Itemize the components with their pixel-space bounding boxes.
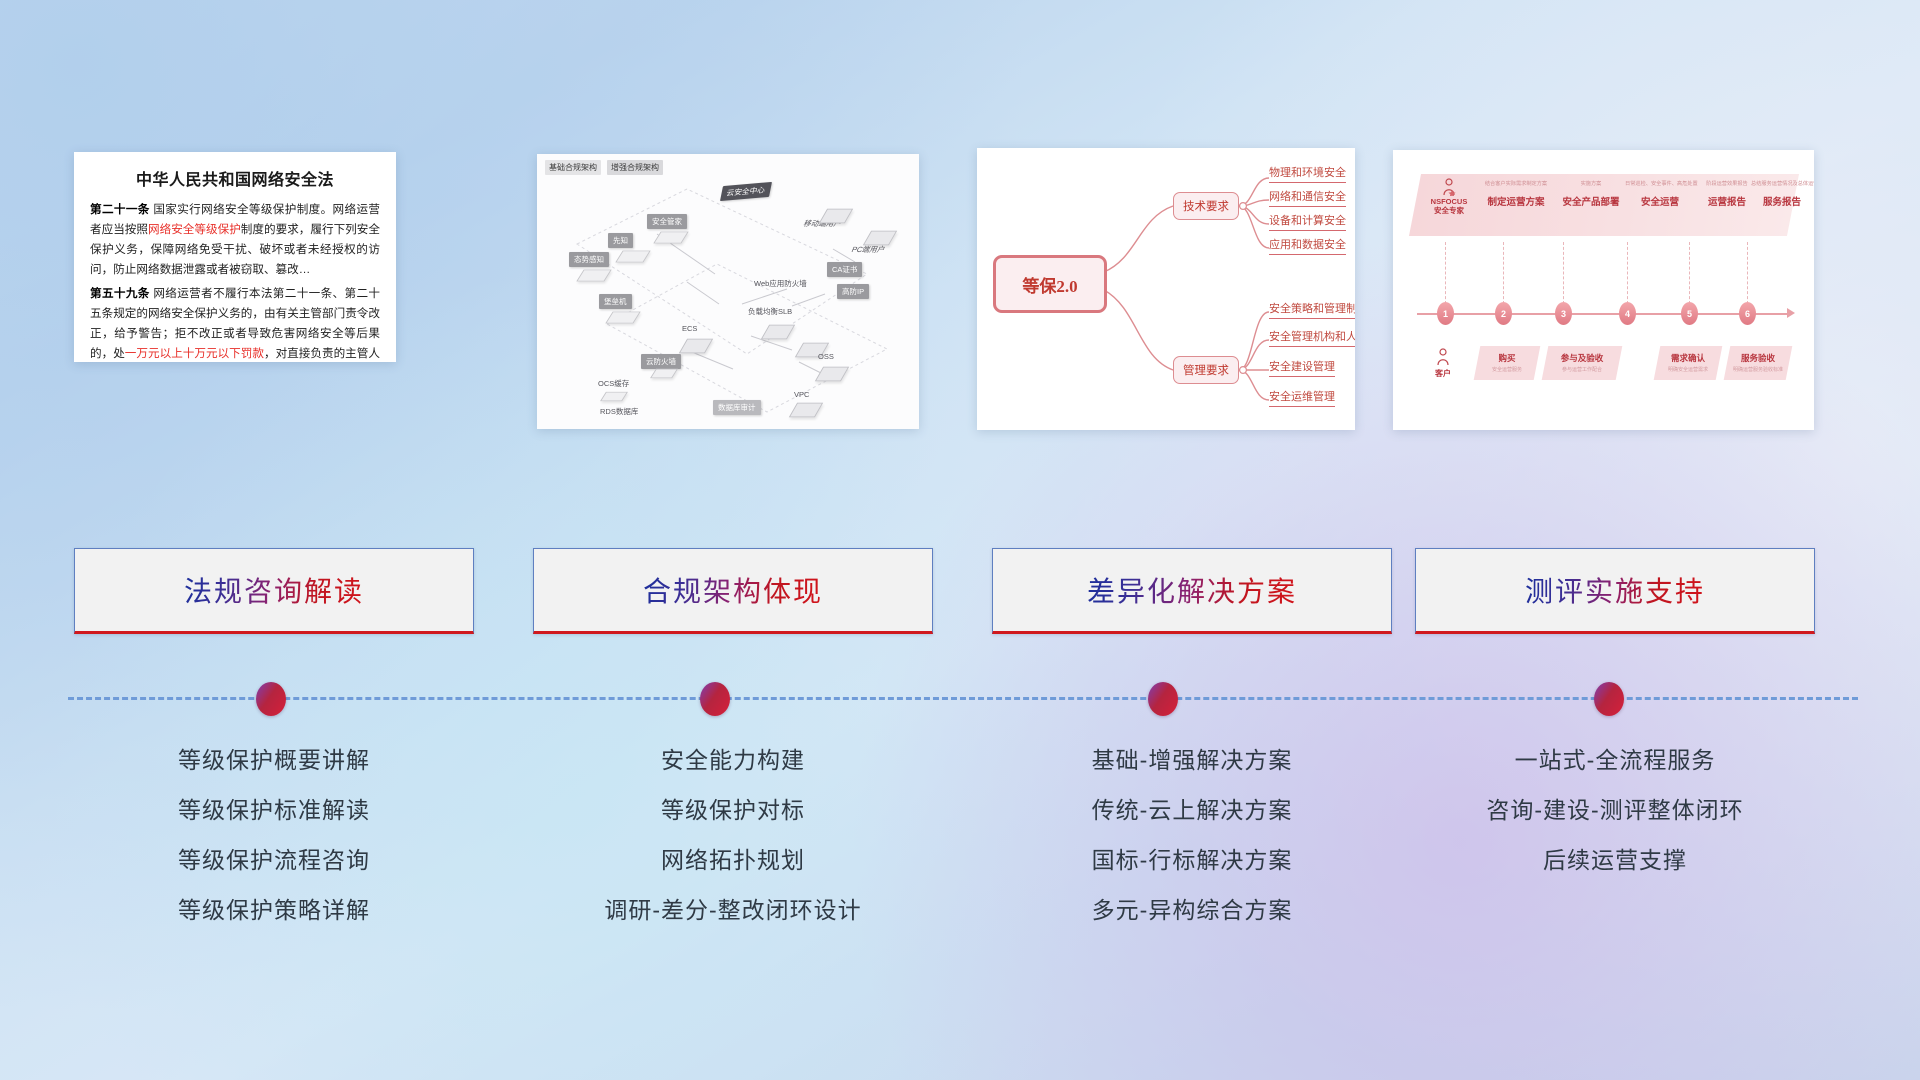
nsfocus-milestone-3[interactable]: 3 <box>1555 302 1572 325</box>
feature-item[interactable]: 等级保护概要讲解 <box>74 735 474 785</box>
architecture-node-rds-database[interactable]: RDS数据库 <box>595 404 643 419</box>
architecture-node-situation-awareness[interactable]: 态势感知 <box>569 252 609 267</box>
tab-assessment-support[interactable]: 测评实施支持 <box>1415 548 1815 634</box>
nsfocus-milestone-1[interactable]: 1 <box>1437 302 1454 325</box>
feature-item[interactable]: 调研-差分-整改闭环设计 <box>533 885 933 935</box>
nsfocus-milestone-2[interactable]: 2 <box>1495 302 1512 325</box>
mindmap-leaf-physical-environment-security[interactable]: 物理和环境安全 <box>1269 168 1346 183</box>
tab-assessment-support-label: 测评实施支持 <box>1525 570 1705 610</box>
feature-item[interactable]: 一站式-全流程服务 <box>1415 735 1815 785</box>
nsfocus-bottom-item-4-title: 服务验收 <box>1727 352 1789 364</box>
tab-regulation-consulting-label: 法规咨询解读 <box>184 570 364 610</box>
feature-item[interactable]: 传统-云上解决方案 <box>992 785 1392 835</box>
nsfocus-step-5[interactable]: 总结服务运营情况及总体运营效果 服务报告 <box>1751 182 1813 208</box>
feature-column-4: 一站式-全流程服务 咨询-建设-测评整体闭环 后续运营支撑 <box>1415 735 1815 885</box>
feature-item[interactable]: 等级保护对标 <box>533 785 933 835</box>
nsfocus-bottom-item-3-sub: 明确安全运营需求 <box>1657 366 1719 373</box>
nsfocus-bottom-item-1-sub: 安全运营服务 <box>1477 366 1537 373</box>
architecture-node-cloud-firewall[interactable]: 云防火墙 <box>641 354 681 369</box>
architecture-node-bastion-host[interactable]: 堡垒机 <box>599 294 632 309</box>
nsfocus-tick-3 <box>1563 242 1565 304</box>
feature-item[interactable]: 多元-异构综合方案 <box>992 885 1392 935</box>
nsfocus-brand-line2: 安全专家 <box>1434 206 1464 215</box>
architecture-canvas: 基础合规架构 增强合规架构 <box>537 154 919 429</box>
nsfocus-bottom-item-2[interactable]: 参与及验收 参与运营工作配合 <box>1545 352 1619 373</box>
mindmap-leaf-application-data-security[interactable]: 应用和数据安全 <box>1269 240 1346 255</box>
feature-item[interactable]: 等级保护标准解读 <box>74 785 474 835</box>
nsfocus-tick-2 <box>1503 242 1505 304</box>
mindmap-leaf-security-construction-management[interactable]: 安全建设管理 <box>1269 362 1335 377</box>
article-59-label: 第五十九条 <box>90 287 150 300</box>
article-21-label: 第二十一条 <box>90 203 150 216</box>
tab-regulation-consulting[interactable]: 法规咨询解读 <box>74 548 474 634</box>
feature-item[interactable]: 安全能力构建 <box>533 735 933 785</box>
feature-row: 等级保护概要讲解 等级保护标准解读 等级保护流程咨询 等级保护策略详解 安全能力… <box>0 735 1920 965</box>
nsfocus-step-4-sub: 阶段运营效果报告 <box>1697 182 1757 187</box>
nsfocus-bottom-item-1-title: 购买 <box>1477 352 1537 364</box>
card-law-text[interactable]: 中华人民共和国网络安全法 第二十一条 国家实行网络安全等级保护制度。网络运营者应… <box>74 152 396 362</box>
nsfocus-step-2-title: 安全产品部署 <box>1555 194 1627 208</box>
feature-item[interactable]: 等级保护流程咨询 <box>74 835 474 885</box>
nsfocus-brand: NSFOCUS 安全专家 <box>1421 178 1477 216</box>
nsfocus-bottom-item-3[interactable]: 需求确认 明确安全运营需求 <box>1657 352 1719 373</box>
nsfocus-milestone-4[interactable]: 4 <box>1619 302 1636 325</box>
nsfocus-milestone-6[interactable]: 6 <box>1739 302 1756 325</box>
nsfocus-tick-1 <box>1445 242 1447 304</box>
timeline-dot-3[interactable] <box>1148 682 1178 716</box>
architecture-node-security-butler[interactable]: 安全管家 <box>647 214 687 229</box>
timeline-dashed-line <box>68 697 1858 700</box>
feature-column-2: 安全能力构建 等级保护对标 网络拓扑规划 调研-差分-整改闭环设计 <box>533 735 933 935</box>
nsfocus-customer-label: 客户 <box>1415 368 1471 379</box>
architecture-node-anti-ddos-ip[interactable]: 高防IP <box>837 284 869 299</box>
nsfocus-milestone-5[interactable]: 5 <box>1681 302 1698 325</box>
security-expert-icon <box>1441 178 1457 196</box>
tab-compliance-architecture[interactable]: 合规架构体现 <box>533 548 933 634</box>
nsfocus-canvas: NSFOCUS 安全专家 结合客户实际需求制定方案 制定运营方案 实施方案 安全… <box>1393 150 1814 430</box>
nsfocus-step-2[interactable]: 实施方案 安全产品部署 <box>1555 182 1627 208</box>
architecture-node-database-audit[interactable]: 数据库审计 <box>713 400 761 415</box>
card-architecture-diagram[interactable]: 基础合规架构 增强合规架构 <box>537 154 919 429</box>
nsfocus-tick-6 <box>1747 242 1749 304</box>
customer-icon <box>1435 348 1451 366</box>
nsfocus-bottom-item-4[interactable]: 服务验收 明确运营服务验收标准 <box>1727 352 1789 373</box>
architecture-node-vpc[interactable]: VPC <box>789 388 814 401</box>
nsfocus-banner-content: NSFOCUS 安全专家 结合客户实际需求制定方案 制定运营方案 实施方案 安全… <box>1415 174 1793 236</box>
card-mindmap[interactable]: 等保2.0 技术要求 物理和环境安全 网络和通信安全 设备和计算安全 应用和数据… <box>977 148 1355 430</box>
nsfocus-step-1-title: 制定运营方案 <box>1477 194 1555 208</box>
mindmap-branch-technical[interactable]: 技术要求 <box>1173 192 1239 220</box>
feature-item[interactable]: 等级保护策略详解 <box>74 885 474 935</box>
nsfocus-customer-block: 客户 <box>1415 348 1471 379</box>
nsfocus-step-4[interactable]: 阶段运营效果报告 运营报告 <box>1697 182 1757 208</box>
architecture-node-ca-certificate[interactable]: CA证书 <box>827 262 862 277</box>
tab-differentiated-solution[interactable]: 差异化解决方案 <box>992 548 1392 634</box>
nsfocus-bottom-item-2-sub: 参与运营工作配合 <box>1545 366 1619 373</box>
slide-canvas: 中华人民共和国网络安全法 第二十一条 国家实行网络安全等级保护制度。网络运营者应… <box>0 0 1920 1080</box>
article-21-highlight: 网络安全等级保护 <box>148 223 241 236</box>
architecture-node-ecs[interactable]: ECS <box>677 322 702 335</box>
feature-item[interactable]: 基础-增强解决方案 <box>992 735 1392 785</box>
tab-compliance-architecture-label: 合规架构体现 <box>643 570 823 610</box>
nsfocus-axis <box>1417 313 1789 315</box>
mindmap-branch-management[interactable]: 管理要求 <box>1173 356 1239 384</box>
card-row: 中华人民共和国网络安全法 第二十一条 国家实行网络安全等级保护制度。网络运营者应… <box>0 0 1920 440</box>
architecture-node-ocs-cache[interactable]: OCS缓存 <box>593 376 634 391</box>
tab-row: 法规咨询解读 合规架构体现 差异化解决方案 测评实施支持 <box>0 548 1920 646</box>
mindmap-leaf-security-ops-management[interactable]: 安全运维管理 <box>1269 392 1335 407</box>
card-nsfocus-timeline[interactable]: NSFOCUS 安全专家 结合客户实际需求制定方案 制定运营方案 实施方案 安全… <box>1393 150 1814 430</box>
architecture-node-oss[interactable]: OSS <box>813 350 839 363</box>
feature-item[interactable]: 国标-行标解决方案 <box>992 835 1392 885</box>
mindmap-leaf-network-communication-security[interactable]: 网络和通信安全 <box>1269 192 1346 207</box>
nsfocus-bottom-item-1[interactable]: 购买 安全运营服务 <box>1477 352 1537 373</box>
law-article-59: 第五十九条 网络运营者不履行本法第二十一条、第二十五条规定的网络安全保护义务的，… <box>90 284 380 362</box>
feature-item[interactable]: 网络拓扑规划 <box>533 835 933 885</box>
nsfocus-bottom-item-4-sub: 明确运营服务验收标准 <box>1727 366 1789 373</box>
nsfocus-bottom-item-2-title: 参与及验收 <box>1545 352 1619 364</box>
nsfocus-step-5-title: 服务报告 <box>1751 194 1813 208</box>
nsfocus-step-3[interactable]: 日常巡检、安全事件、高危处置 安全运营 <box>1625 182 1695 208</box>
mindmap-leaf-device-computing-security[interactable]: 设备和计算安全 <box>1269 216 1346 231</box>
architecture-node-load-balancer-slb[interactable]: 负载均衡SLB <box>743 304 797 319</box>
nsfocus-brand-line1: NSFOCUS <box>1431 197 1468 206</box>
nsfocus-tick-5 <box>1689 242 1691 304</box>
tab-differentiated-solution-label: 差异化解决方案 <box>1087 570 1297 610</box>
feature-column-3: 基础-增强解决方案 传统-云上解决方案 国标-行标解决方案 多元-异构综合方案 <box>992 735 1392 935</box>
feature-column-1: 等级保护概要讲解 等级保护标准解读 等级保护流程咨询 等级保护策略详解 <box>74 735 474 935</box>
nsfocus-step-2-sub: 实施方案 <box>1555 182 1627 187</box>
timeline <box>0 660 1920 730</box>
mindmap-root-node[interactable]: 等保2.0 <box>993 255 1107 313</box>
nsfocus-step-3-title: 安全运营 <box>1625 194 1695 208</box>
timeline-dot-1[interactable] <box>256 682 286 716</box>
nsfocus-step-1[interactable]: 结合客户实际需求制定方案 制定运营方案 <box>1477 182 1555 208</box>
nsfocus-bottom-item-3-title: 需求确认 <box>1657 352 1719 364</box>
nsfocus-axis-arrow-icon <box>1787 308 1795 318</box>
nsfocus-step-4-title: 运营报告 <box>1697 194 1757 208</box>
architecture-node-web-application-firewall[interactable]: Web应用防火墙 <box>749 276 812 291</box>
feature-item[interactable]: 后续运营支撑 <box>1415 835 1815 885</box>
nsfocus-step-1-sub: 结合客户实际需求制定方案 <box>1477 182 1555 187</box>
architecture-node-xianzhi[interactable]: 先知 <box>608 233 633 248</box>
law-body: 中华人民共和国网络安全法 第二十一条 国家实行网络安全等级保护制度。网络运营者应… <box>74 152 396 362</box>
timeline-dot-4[interactable] <box>1594 682 1624 716</box>
mindmap-canvas: 等保2.0 技术要求 物理和环境安全 网络和通信安全 设备和计算安全 应用和数据… <box>977 148 1355 430</box>
law-article-21: 第二十一条 国家实行网络安全等级保护制度。网络运营者应当按照网络安全等级保护制度… <box>90 200 380 280</box>
feature-item[interactable]: 咨询-建设-测评整体闭环 <box>1415 785 1815 835</box>
nsfocus-step-5-sub: 总结服务运营情况及总体运营效果 <box>1751 182 1813 187</box>
mindmap-leaf-security-org-personnel[interactable]: 安全管理机构和人员 <box>1269 332 1355 347</box>
timeline-dot-2[interactable] <box>700 682 730 716</box>
law-title: 中华人民共和国网络安全法 <box>90 166 380 190</box>
article-59-highlight-1: 一万元以上十万元以下罚款 <box>125 347 264 360</box>
mindmap-leaf-security-policy-management-system[interactable]: 安全策略和管理制度 <box>1269 304 1355 319</box>
nsfocus-tick-4 <box>1627 242 1629 304</box>
nsfocus-step-3-sub: 日常巡检、安全事件、高危处置 <box>1625 182 1695 187</box>
